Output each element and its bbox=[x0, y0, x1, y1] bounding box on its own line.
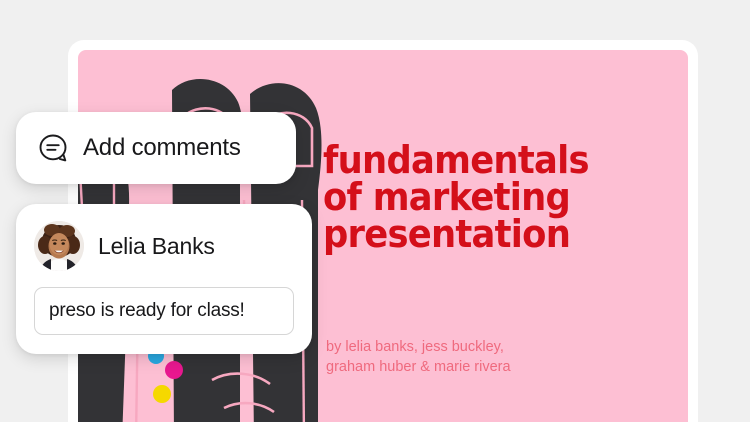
comment-author-name: Lelia Banks bbox=[98, 233, 215, 260]
slide-byline-line: by lelia banks, jess buckley, bbox=[326, 338, 656, 358]
slide-title-line: fundamentals bbox=[323, 142, 676, 179]
comment-card[interactable]: Lelia Banks bbox=[16, 204, 312, 354]
comment-author-row: Lelia Banks bbox=[34, 220, 294, 272]
slide-byline[interactable]: by lelia banks, jess buckley, graham hub… bbox=[326, 338, 656, 377]
add-comments-button[interactable]: Add comments bbox=[16, 112, 296, 184]
slide-byline-line: graham huber & marie rivera bbox=[326, 358, 656, 378]
avatar[interactable] bbox=[34, 221, 84, 271]
slide-title[interactable]: fundamentals of marketing presentation bbox=[323, 142, 676, 254]
slide-title-line: presentation bbox=[323, 216, 676, 253]
comment-input[interactable] bbox=[34, 287, 294, 335]
comment-bubble-icon bbox=[38, 133, 68, 163]
editor-canvas: fundamentals of marketing presentation b… bbox=[0, 0, 750, 422]
slide-title-line: of marketing bbox=[323, 179, 676, 216]
add-comments-label: Add comments bbox=[83, 134, 241, 162]
